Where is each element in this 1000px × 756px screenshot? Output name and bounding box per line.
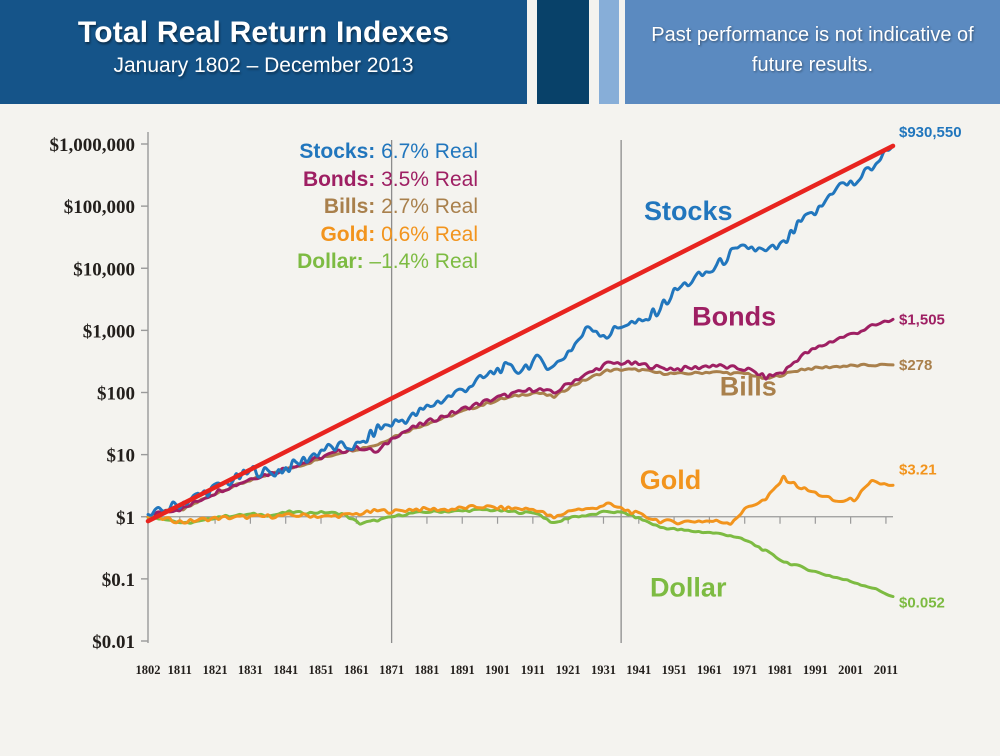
series-annotation-dollar: Dollar: [650, 573, 727, 603]
legend-item-gold: Gold: 0.6% Real: [228, 221, 478, 249]
chart-legend: Stocks: 6.7% RealBonds: 3.5% RealBills: …: [228, 138, 478, 276]
y-axis-label-8: $0.01: [92, 632, 135, 653]
header-band-navy: [537, 0, 589, 104]
x-axis-label-1941: 1941: [626, 663, 651, 677]
legend-item-label: Stocks:: [299, 140, 375, 163]
legend-item-value: 6.7% Real: [375, 140, 478, 163]
x-axis-label-1891: 1891: [450, 663, 475, 677]
x-axis-label-2011: 2011: [874, 663, 898, 677]
series-line-dollar: [148, 509, 893, 596]
y-axis-label-4: $100: [97, 384, 135, 405]
y-axis-label-1: $100,000: [64, 197, 135, 218]
x-axis-label-1961: 1961: [697, 663, 722, 677]
x-axis-label-1931: 1931: [591, 663, 616, 677]
x-axis-label-1921: 1921: [556, 663, 581, 677]
disclaimer-text: Past performance is not indicative of fu…: [625, 20, 1000, 80]
y-axis-label-2: $10,000: [73, 259, 135, 280]
series-line-bonds: [148, 319, 893, 517]
y-axis-label-0: $1,000,000: [50, 135, 136, 156]
legend-item-stocks: Stocks: 6.7% Real: [228, 138, 478, 166]
end-value-label-dollar: $0.052: [899, 595, 945, 612]
x-axis-label-1811: 1811: [168, 663, 192, 677]
x-axis-label-1901: 1901: [485, 663, 510, 677]
legend-item-bills: Bills: 2.7% Real: [228, 193, 478, 221]
legend-item-dollar: Dollar: –1.4% Real: [228, 248, 478, 276]
x-axis-label-1971: 1971: [732, 663, 757, 677]
return-index-line-chart: $1,000,000$100,000$10,000$1,000$100$10$1…: [0, 104, 1000, 756]
end-value-label-stocks: $930,550: [899, 124, 962, 141]
x-axis-label-1821: 1821: [203, 663, 228, 677]
x-axis-label-2001: 2001: [838, 663, 863, 677]
x-axis-label-1871: 1871: [379, 663, 404, 677]
x-axis-label-1951: 1951: [662, 663, 687, 677]
x-axis-label-1881: 1881: [414, 663, 439, 677]
legend-item-value: 0.6% Real: [375, 223, 478, 246]
legend-item-value: 2.7% Real: [375, 195, 478, 218]
legend-item-value: –1.4% Real: [364, 250, 478, 273]
series-annotation-gold: Gold: [640, 465, 702, 495]
end-value-label-bills: $278: [899, 357, 932, 374]
x-axis-label-1991: 1991: [803, 663, 828, 677]
series-annotation-bills: Bills: [720, 371, 777, 401]
y-axis-label-6: $1: [116, 508, 135, 529]
x-axis-label-1841: 1841: [273, 663, 298, 677]
x-axis-label-1861: 1861: [344, 663, 369, 677]
x-axis-label-1851: 1851: [309, 663, 334, 677]
y-axis-label-7: $0.1: [102, 570, 135, 591]
legend-item-label: Gold:: [320, 223, 375, 246]
end-value-label-bonds: $1,505: [899, 311, 945, 328]
page-subtitle: January 1802 – December 2013: [0, 54, 527, 78]
page-header: Total Real Return Indexes January 1802 –…: [0, 0, 1000, 104]
series-annotation-bonds: Bonds: [692, 301, 776, 331]
series-annotation-stocks: Stocks: [644, 196, 733, 226]
legend-item-label: Dollar:: [297, 250, 364, 273]
page-title: Total Real Return Indexes: [0, 16, 527, 50]
series-line-bills: [148, 364, 893, 517]
header-band-light: [599, 0, 619, 104]
y-axis-label-3: $1,000: [83, 321, 135, 342]
x-axis-label-1802: 1802: [136, 663, 161, 677]
x-axis-label-1911: 1911: [521, 663, 545, 677]
legend-item-bonds: Bonds: 3.5% Real: [228, 166, 478, 194]
legend-item-label: Bills:: [324, 195, 375, 218]
chart-page: Total Real Return Indexes January 1802 –…: [0, 0, 1000, 756]
y-axis-label-5: $10: [107, 446, 136, 467]
legend-item-value: 3.5% Real: [375, 168, 478, 191]
x-axis-label-1831: 1831: [238, 663, 263, 677]
chart-area: $1,000,000$100,000$10,000$1,000$100$10$1…: [0, 104, 1000, 756]
legend-item-label: Bonds:: [303, 168, 375, 191]
x-axis-label-1981: 1981: [768, 663, 793, 677]
end-value-label-gold: $3.21: [899, 461, 937, 478]
